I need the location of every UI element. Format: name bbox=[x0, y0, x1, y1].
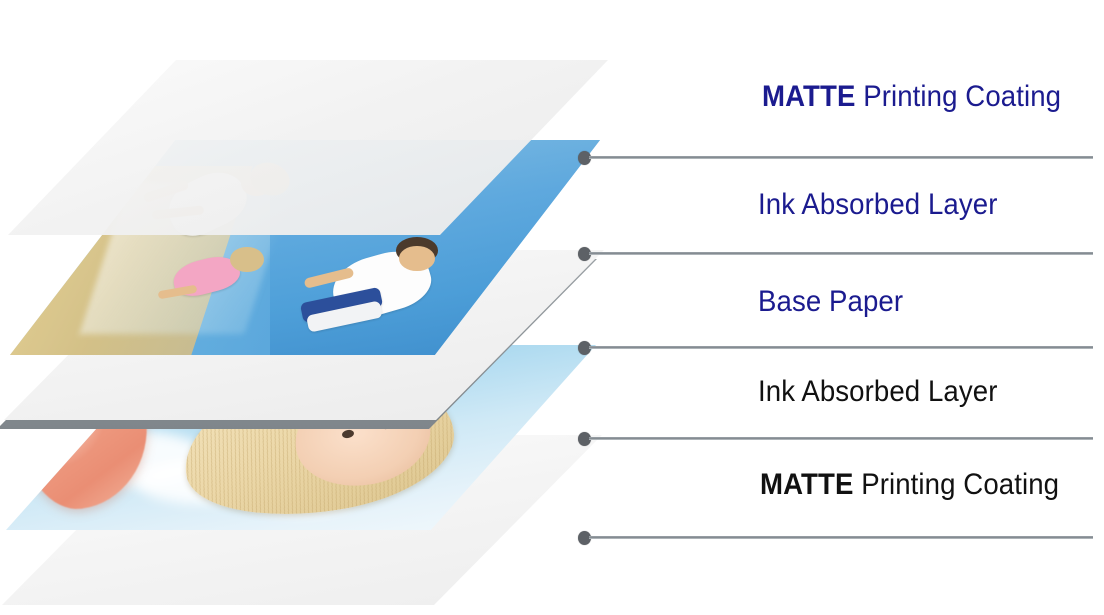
label-rest: Base Paper bbox=[758, 285, 903, 318]
leader-rule bbox=[589, 536, 1093, 539]
figure-child-hair bbox=[230, 247, 264, 273]
leader-rule bbox=[589, 437, 1093, 440]
label-rest: Printing Coating bbox=[853, 468, 1059, 501]
leader-line-ink-top bbox=[578, 244, 1093, 258]
leader-rule bbox=[589, 252, 1093, 255]
label-ink-absorbed-layer-top: Ink Absorbed Layer bbox=[758, 188, 997, 222]
leader-line-top-coating bbox=[578, 148, 1093, 162]
label-matte-printing-coating-bottom: MATTE Printing Coating bbox=[760, 468, 1059, 502]
label-matte-printing-coating-top: MATTE Printing Coating bbox=[762, 80, 1061, 114]
label-rest: Ink Absorbed Layer bbox=[758, 375, 997, 408]
layer-structure-diagram: MATTE Printing Coating Ink Absorbed Laye… bbox=[0, 0, 1104, 615]
leader-line-bottom-coating bbox=[578, 528, 1093, 542]
leader-line-ink-bottom bbox=[578, 429, 1093, 443]
label-rest: Ink Absorbed Layer bbox=[758, 188, 997, 221]
leader-line-base-paper bbox=[578, 338, 1093, 352]
figure-child bbox=[158, 243, 288, 329]
figure-man-trousers bbox=[297, 293, 396, 331]
figure-man-head bbox=[399, 246, 434, 271]
label-base-paper: Base Paper bbox=[758, 285, 903, 319]
leader-rule bbox=[589, 156, 1093, 159]
label-rest: Printing Coating bbox=[855, 80, 1061, 113]
label-ink-absorbed-layer-bottom: Ink Absorbed Layer bbox=[758, 375, 997, 409]
layer-top-coating bbox=[8, 60, 608, 235]
label-emphasis: MATTE bbox=[760, 468, 853, 501]
leader-rule bbox=[589, 346, 1093, 349]
figure-man bbox=[293, 230, 470, 342]
top-coating-face bbox=[8, 60, 608, 235]
label-emphasis: MATTE bbox=[762, 80, 855, 113]
